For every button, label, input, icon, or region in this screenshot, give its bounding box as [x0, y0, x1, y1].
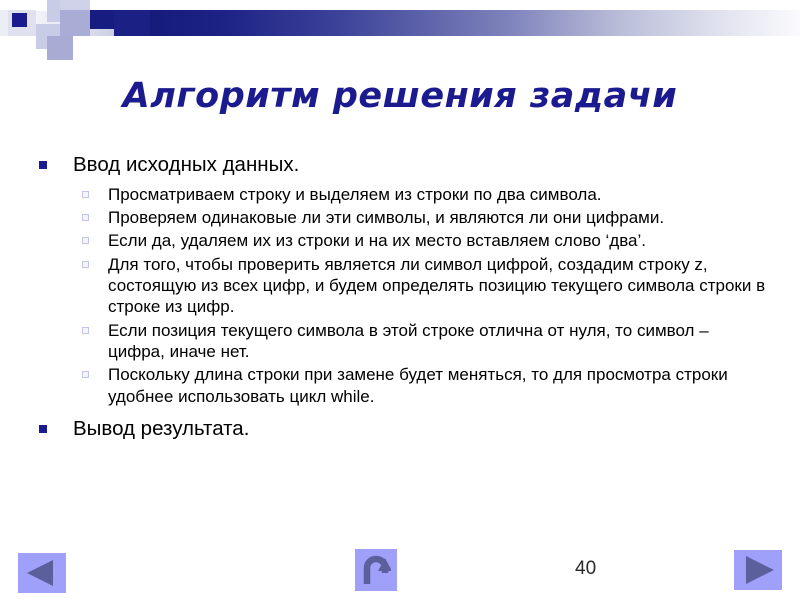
bullet-hollow-square-icon: [82, 327, 89, 334]
triangle-left-icon: [27, 560, 53, 586]
previous-slide-button[interactable]: [18, 553, 66, 593]
list-item-level2: Поскольку длина строки при замене будет …: [30, 364, 770, 407]
list-item-text: Вывод результата.: [73, 417, 249, 440]
mosaic-square: [114, 10, 150, 36]
bullet-hollow-square-icon: [82, 214, 89, 221]
header-decoration: [0, 0, 800, 56]
mosaic-square: [60, 10, 90, 36]
bullet-hollow-square-icon: [82, 371, 89, 378]
mosaic-square: [47, 36, 73, 60]
u-turn-arrow-icon: [361, 554, 391, 591]
page-title: Алгоритм решения задачи: [0, 76, 800, 116]
header-gradient-bar: [148, 10, 800, 36]
mosaic-square: [90, 10, 114, 29]
next-slide-button[interactable]: [734, 550, 782, 590]
list-item-level1: Ввод исходных данных.: [30, 152, 770, 178]
bullet-square-icon: [39, 425, 47, 433]
presentation-slide: Алгоритм решения задачи Ввод исходных да…: [0, 0, 800, 600]
list-item-level2: Для того, чтобы проверить является ли си…: [30, 254, 770, 318]
page-number: 40: [575, 558, 596, 580]
list-item-text: Если позиция текущего символа в этой стр…: [108, 321, 709, 361]
list-item-level1: Вывод результата.: [30, 416, 770, 442]
list-item-level2: Просматриваем строку и выделяем из строк…: [30, 184, 770, 205]
bullet-hollow-square-icon: [82, 191, 89, 198]
list-item-level2: Если позиция текущего символа в этой стр…: [30, 320, 770, 363]
list-item-text: Проверяем одинаковые ли эти символы, и я…: [108, 208, 664, 227]
list-item-text: Просматриваем строку и выделяем из строк…: [108, 185, 602, 204]
bullet-hollow-square-icon: [82, 237, 89, 244]
bullet-hollow-square-icon: [82, 261, 89, 268]
list-item-level2: Проверяем одинаковые ли эти символы, и я…: [30, 207, 770, 228]
bullet-list: Ввод исходных данных. Просматриваем стро…: [30, 152, 770, 448]
mosaic-square: [60, 0, 90, 10]
triangle-right-icon: [746, 556, 774, 584]
list-item-text: Поскольку длина строки при замене будет …: [108, 365, 728, 405]
list-item-level2: Если да, удаляем их из строки и на их ме…: [30, 230, 770, 251]
list-item-text: Для того, чтобы проверить является ли си…: [108, 255, 765, 317]
bullet-square-icon: [39, 161, 47, 169]
return-to-menu-button[interactable]: [355, 549, 397, 591]
list-item-text: Если да, удаляем их из строки и на их ме…: [108, 231, 646, 250]
list-item-text: Ввод исходных данных.: [73, 153, 299, 176]
mosaic-square-accent: [12, 13, 27, 27]
